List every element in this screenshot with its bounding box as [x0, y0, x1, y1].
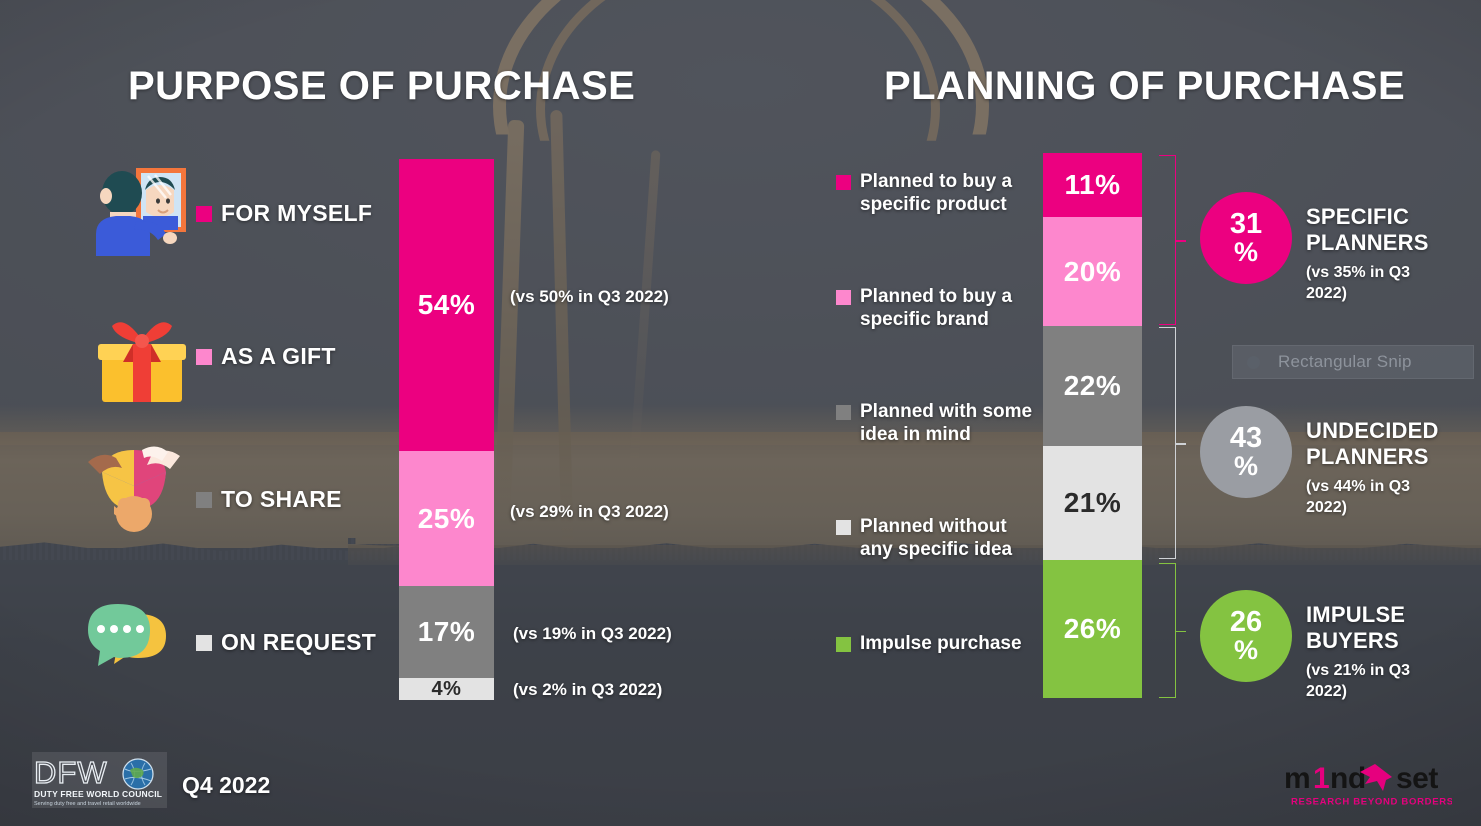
- svg-text:nd: nd: [1330, 762, 1366, 795]
- svg-text:m: m: [1284, 762, 1310, 795]
- legend-swatch-on-request: [196, 635, 212, 651]
- legend-label-specific-brand: Planned to buy a specific brand: [860, 285, 1036, 331]
- legend-label-for-myself: FOR MYSELF: [221, 200, 372, 227]
- summary-percent-undecided: %: [1234, 453, 1258, 480]
- summary-percent-specific: %: [1234, 239, 1258, 266]
- bar-value-some-idea: 22%: [1064, 370, 1122, 402]
- bracket-arm-specific: [1175, 240, 1186, 242]
- bar-value-impulse-purchase: 26%: [1064, 613, 1122, 645]
- bar-value-as-a-gift: 25%: [418, 503, 476, 535]
- legend-item-for-myself[interactable]: FOR MYSELF: [196, 200, 372, 227]
- summary-value-impulse: 26: [1230, 608, 1262, 637]
- summary-circle-impulse: 26 %: [1200, 590, 1292, 682]
- gift-box-icon: [92, 310, 192, 410]
- summary-title-specific-l2: PLANNERS: [1306, 230, 1429, 256]
- dfwc-logo: DFW DUTY FREE WORLD COUNCIL Serving duty…: [32, 752, 167, 808]
- comparison-note-for-myself: (vs 50% in Q3 2022): [510, 287, 669, 307]
- legend-label-some-idea: Planned with some idea in mind: [860, 400, 1051, 446]
- summary-circle-undecided: 43 %: [1200, 406, 1292, 498]
- bar-value-specific-brand: 20%: [1064, 256, 1122, 288]
- bar-value-to-share: 17%: [418, 616, 476, 648]
- legend-item-on-request[interactable]: ON REQUEST: [196, 629, 376, 656]
- legend-swatch-impulse-purchase: [836, 637, 851, 652]
- summary-title-impulse-l1: IMPULSE: [1306, 602, 1416, 628]
- bracket-arm-impulse: [1175, 631, 1186, 633]
- comparison-note-as-a-gift: (vs 29% in Q3 2022): [510, 502, 669, 522]
- summary-note-specific: (vs 35% in Q3 2022): [1306, 263, 1416, 305]
- summary-text-impulse: IMPULSE BUYERS (vs 21% in Q3 2022): [1306, 590, 1416, 702]
- bar-segment-specific-brand[interactable]: 20%: [1043, 217, 1142, 326]
- svg-text:DFW: DFW: [34, 755, 108, 790]
- legend-label-to-share: TO SHARE: [221, 486, 342, 513]
- bracket-impulse-buyers: [1159, 563, 1176, 698]
- circle-dot-icon: [1247, 356, 1260, 369]
- legend-swatch-for-myself: [196, 206, 212, 222]
- legend-swatch-some-idea: [836, 405, 851, 420]
- bar-segment-specific-product[interactable]: 11%: [1043, 153, 1142, 217]
- bar-value-no-specific-idea: 21%: [1064, 487, 1122, 519]
- comparison-note-on-request: (vs 2% in Q3 2022): [513, 680, 662, 700]
- summary-note-impulse: (vs 21% in Q3 2022): [1306, 661, 1416, 703]
- stacked-bar-planning: 11% 20% 22% 21% 26%: [1043, 153, 1142, 698]
- legend-label-on-request: ON REQUEST: [221, 629, 376, 656]
- legend-swatch-specific-brand: [836, 290, 851, 305]
- bar-segment-impulse-purchase[interactable]: 26%: [1043, 560, 1142, 698]
- comparison-note-to-share: (vs 19% in Q3 2022): [513, 624, 672, 644]
- bracket-undecided-planners: [1159, 327, 1176, 559]
- legend-item-specific-product[interactable]: Planned to buy a specific product: [836, 170, 1036, 216]
- svg-text:RESEARCH BEYOND BORDERS: RESEARCH BEYOND BORDERS: [1291, 797, 1452, 808]
- slide-canvas: PURPOSE OF PURCHASE PLANNING OF PURCHASE: [0, 0, 1481, 826]
- speech-bubbles-icon: [84, 592, 184, 692]
- bar-segment-for-myself[interactable]: 54%: [399, 159, 494, 451]
- summary-undecided-planners[interactable]: 43 % UNDECIDED PLANNERS (vs 44% in Q3 20…: [1200, 406, 1439, 518]
- summary-impulse-buyers[interactable]: 26 % IMPULSE BUYERS (vs 21% in Q3 2022): [1200, 590, 1416, 702]
- legend-swatch-no-specific-idea: [836, 520, 851, 535]
- stacked-bar-purpose: 54% 25% 17% 4%: [399, 159, 494, 700]
- legend-label-impulse-purchase: Impulse purchase: [860, 632, 1022, 655]
- rectangular-snip-overlay[interactable]: Rectangular Snip: [1232, 345, 1474, 379]
- bar-segment-on-request[interactable]: 4%: [399, 678, 494, 700]
- rectangular-snip-label: Rectangular Snip: [1278, 352, 1412, 372]
- legend-item-specific-brand[interactable]: Planned to buy a specific brand: [836, 285, 1036, 331]
- summary-title-impulse-l2: BUYERS: [1306, 628, 1416, 654]
- legend-item-as-a-gift[interactable]: AS A GIFT: [196, 343, 336, 370]
- legend-label-as-a-gift: AS A GIFT: [221, 343, 336, 370]
- summary-title-specific-l1: SPECIFIC: [1306, 204, 1429, 230]
- legend-swatch-to-share: [196, 492, 212, 508]
- person-mirror-icon: [88, 160, 188, 260]
- bracket-arm-undecided: [1175, 443, 1186, 445]
- mindset-logo: m 1 nd set RESEARCH BEYOND BORDERS: [1282, 757, 1452, 809]
- hands-sharing-icon: [84, 436, 184, 536]
- svg-text:Serving duty free and travel r: Serving duty free and travel retail worl…: [34, 801, 141, 807]
- summary-circle-specific: 31 %: [1200, 192, 1292, 284]
- svg-text:DUTY FREE WORLD COUNCIL: DUTY FREE WORLD COUNCIL: [34, 789, 162, 799]
- legend-label-no-specific-idea: Planned without any specific idea: [860, 515, 1036, 561]
- legend-item-impulse-purchase[interactable]: Impulse purchase: [836, 632, 1051, 655]
- bar-segment-to-share[interactable]: 17%: [399, 586, 494, 678]
- page-title-left: PURPOSE OF PURCHASE: [128, 64, 635, 109]
- legend-item-some-idea[interactable]: Planned with some idea in mind: [836, 400, 1051, 446]
- legend-swatch-specific-product: [836, 175, 851, 190]
- summary-text-specific: SPECIFIC PLANNERS (vs 35% in Q3 2022): [1306, 192, 1429, 304]
- legend-item-no-specific-idea[interactable]: Planned without any specific idea: [836, 515, 1036, 561]
- footer-quarter-label: Q4 2022: [182, 772, 270, 799]
- legend-label-specific-product: Planned to buy a specific product: [860, 170, 1036, 216]
- summary-specific-planners[interactable]: 31 % SPECIFIC PLANNERS (vs 35% in Q3 202…: [1200, 192, 1429, 304]
- bar-segment-some-idea[interactable]: 22%: [1043, 326, 1142, 446]
- bar-value-on-request: 4%: [432, 678, 462, 701]
- svg-text:1: 1: [1313, 762, 1329, 795]
- summary-title-undecided-l1: UNDECIDED: [1306, 418, 1439, 444]
- bar-segment-as-a-gift[interactable]: 25%: [399, 451, 494, 586]
- legend-item-to-share[interactable]: TO SHARE: [196, 486, 342, 513]
- summary-title-undecided-l2: PLANNERS: [1306, 444, 1439, 470]
- summary-text-undecided: UNDECIDED PLANNERS (vs 44% in Q3 2022): [1306, 406, 1439, 518]
- bar-segment-no-specific-idea[interactable]: 21%: [1043, 446, 1142, 560]
- summary-value-undecided: 43: [1230, 424, 1262, 453]
- summary-percent-impulse: %: [1234, 637, 1258, 664]
- summary-value-specific: 31: [1230, 210, 1262, 239]
- legend-swatch-as-a-gift: [196, 349, 212, 365]
- bar-value-specific-product: 11%: [1065, 169, 1121, 201]
- svg-text:set: set: [1396, 762, 1438, 795]
- bar-value-for-myself: 54%: [418, 289, 476, 321]
- bracket-specific-planners: [1159, 155, 1176, 325]
- summary-note-undecided: (vs 44% in Q3 2022): [1306, 477, 1416, 519]
- page-title-right: PLANNING OF PURCHASE: [884, 64, 1405, 109]
